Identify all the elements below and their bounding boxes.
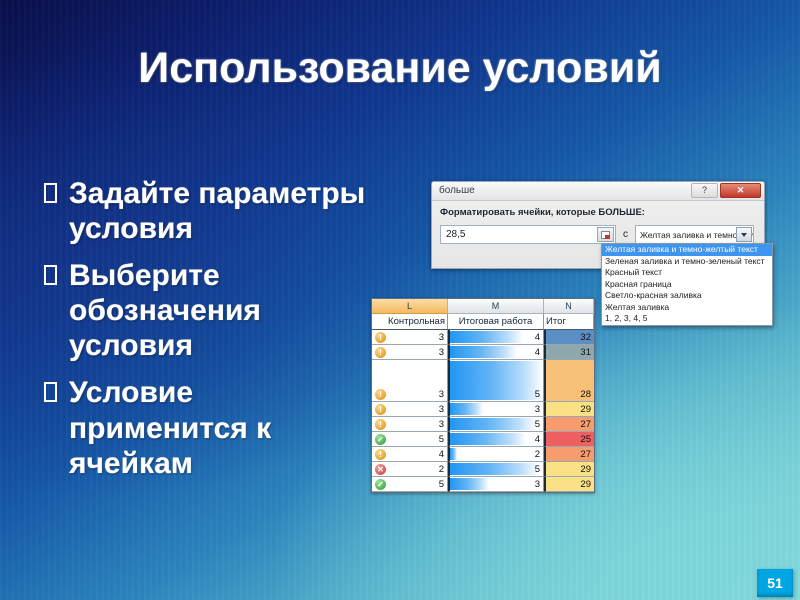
menu-item[interactable]: Красная граница xyxy=(602,279,772,291)
table-row[interactable]: ✓5329 xyxy=(372,477,594,492)
cell-value: 5 xyxy=(535,419,540,430)
data-bar xyxy=(450,403,483,415)
menu-item[interactable]: Желтая заливка xyxy=(602,302,772,314)
cell-value: 28 xyxy=(580,389,591,400)
bullet-marker-icon xyxy=(44,265,57,285)
cell-itog[interactable]: 27 xyxy=(544,447,594,462)
data-bar xyxy=(450,418,536,430)
cell-value: 4 xyxy=(535,347,540,358)
cell-kontrolnaya[interactable]: !3 xyxy=(372,360,448,402)
spreadsheet[interactable]: L M N Контрольная Итоговая работа Итог !… xyxy=(371,298,595,493)
column-header-m[interactable]: M xyxy=(448,299,544,314)
cell-value: 27 xyxy=(580,449,591,460)
cell-value: 29 xyxy=(580,464,591,475)
column-header-l[interactable]: L xyxy=(372,299,448,314)
range-select-icon[interactable] xyxy=(597,227,614,242)
table-row[interactable]: !3527 xyxy=(372,417,594,432)
threshold-value: 28,5 xyxy=(441,229,465,240)
dropdown-reflection: Желтая заливка и темно-желтый текст Зеле… xyxy=(601,325,773,359)
cell-value: 3 xyxy=(439,389,444,400)
cell-kontrolnaya[interactable]: !3 xyxy=(372,417,448,432)
dialog-titlebar[interactable]: больше ? ✕ xyxy=(432,182,764,201)
menu-item[interactable]: Красный текст xyxy=(602,267,772,279)
cell-itog[interactable]: 25 xyxy=(544,432,594,447)
menu-item[interactable]: 1, 2, 3, 4, 5 xyxy=(602,313,772,325)
cell-value: 2 xyxy=(535,449,540,460)
cell-value: 4 xyxy=(535,434,540,445)
data-bar xyxy=(450,331,523,343)
cell-value: 27 xyxy=(580,419,591,430)
bullet-text: Задайте параметры условия xyxy=(69,176,374,246)
table-row[interactable]: ✓5425 xyxy=(372,432,594,447)
warning-icon: ! xyxy=(375,389,386,400)
list-item: Выберите обозначения условия xyxy=(44,258,374,363)
dialog-prompt-label: Форматировать ячейки, которые БОЛЬШЕ: xyxy=(440,207,756,218)
table-row[interactable]: !4227 xyxy=(372,447,594,462)
menu-item[interactable]: Зеленая заливка и темно-зеленый текст xyxy=(602,256,772,268)
cell-itogovaya-rabota[interactable]: 2 xyxy=(448,447,544,462)
threshold-input[interactable]: 28,5 xyxy=(440,225,616,244)
warning-icon: ! xyxy=(375,404,386,415)
cell-kontrolnaya[interactable]: !4 xyxy=(372,447,448,462)
dialog-body: Форматировать ячейки, которые БОЛЬШЕ: 28… xyxy=(432,201,764,244)
cell-itog[interactable]: 29 xyxy=(544,462,594,477)
slide-canvas: Использование условий Задайте параметры … xyxy=(0,0,800,600)
list-item: Задайте параметры условия xyxy=(44,176,374,246)
cell-itog[interactable]: 27 xyxy=(544,417,594,432)
cell-value: 3 xyxy=(439,347,444,358)
cell-value: 3 xyxy=(535,404,540,415)
bullet-list: Задайте параметры условия Выберите обозн… xyxy=(44,176,374,493)
cell-itogovaya-rabota[interactable]: 4 xyxy=(448,345,544,360)
table-row[interactable]: !3432 xyxy=(372,330,594,345)
warning-icon: ! xyxy=(375,419,386,430)
cell-value: 3 xyxy=(439,404,444,415)
page-title: Использование условий xyxy=(0,44,800,93)
table-header-cell: Контрольная xyxy=(372,314,448,330)
cell-kontrolnaya[interactable]: ✕2 xyxy=(372,462,448,477)
cell-value: 25 xyxy=(580,434,591,445)
cell-value: 5 xyxy=(535,464,540,475)
close-icon[interactable]: ✕ xyxy=(720,183,761,198)
cell-value: 3 xyxy=(535,479,540,490)
cell-value: 5 xyxy=(535,389,540,400)
menu-item[interactable]: Желтая заливка и темно-желтый текст xyxy=(602,244,772,256)
data-bar xyxy=(450,433,526,445)
table-header-row: Контрольная Итоговая работа Итог xyxy=(372,314,594,330)
cell-value: 32 xyxy=(580,332,591,343)
table-row[interactable]: !3431 xyxy=(372,345,594,360)
ok-icon: ✓ xyxy=(375,479,386,490)
bullet-text: Выберите обозначения условия xyxy=(69,258,374,363)
ok-icon: ✓ xyxy=(375,434,386,445)
cell-value: 4 xyxy=(439,449,444,460)
table-row[interactable]: !3528 xyxy=(372,360,594,402)
cell-kontrolnaya[interactable]: ✓5 xyxy=(372,477,448,492)
cell-itogovaya-rabota[interactable]: 4 xyxy=(448,432,544,447)
cell-value: 3 xyxy=(439,419,444,430)
cell-value: 5 xyxy=(439,479,444,490)
cell-itogovaya-rabota[interactable]: 4 xyxy=(448,330,544,345)
data-bar xyxy=(450,346,517,358)
data-bar xyxy=(450,448,457,460)
with-label: с xyxy=(623,229,628,240)
menu-item[interactable]: Светло-красная заливка xyxy=(602,290,772,302)
cell-kontrolnaya[interactable]: !3 xyxy=(372,345,448,360)
column-header-row: L M N xyxy=(372,299,594,314)
table-header-cell: Итоговая работа xyxy=(448,314,544,330)
error-icon: ✕ xyxy=(375,464,386,475)
warning-icon: ! xyxy=(375,347,386,358)
bullet-marker-icon xyxy=(44,382,57,402)
data-bar xyxy=(450,478,489,490)
cell-kontrolnaya[interactable]: !3 xyxy=(372,402,448,417)
cell-itog[interactable]: 29 xyxy=(544,477,594,492)
chevron-down-icon[interactable] xyxy=(736,227,752,242)
cell-itog[interactable]: 32 xyxy=(544,330,594,345)
format-select[interactable]: Желтая заливка и темно-желтый текст xyxy=(635,225,754,244)
cell-kontrolnaya[interactable]: ✓5 xyxy=(372,432,448,447)
cell-itogovaya-rabota[interactable]: 3 xyxy=(448,477,544,492)
spreadsheet-reflection: L M N Контрольная Итоговая работа Итог !… xyxy=(371,530,595,592)
data-bar xyxy=(450,361,543,400)
list-item: Условие применится к ячейкам xyxy=(44,375,374,480)
cell-itogovaya-rabota[interactable]: 5 xyxy=(448,360,544,402)
cell-value: 29 xyxy=(580,404,591,415)
cell-itog[interactable]: 28 xyxy=(544,360,594,402)
cell-itogovaya-rabota[interactable]: 5 xyxy=(448,417,544,432)
warning-icon: ! xyxy=(375,449,386,460)
dialog-controls-row: 28,5 с Желтая заливка и темно-желтый тек… xyxy=(440,225,756,244)
cell-itog[interactable]: 31 xyxy=(544,345,594,360)
bullet-marker-icon xyxy=(44,183,57,203)
cell-value: 4 xyxy=(535,332,540,343)
bullet-text: Условие применится к ячейкам xyxy=(69,375,374,480)
page-number-badge: 51 xyxy=(757,569,793,597)
cell-itogovaya-rabota[interactable]: 5 xyxy=(448,462,544,477)
cell-itog[interactable]: 29 xyxy=(544,402,594,417)
cell-value: 2 xyxy=(439,464,444,475)
column-header-n[interactable]: N xyxy=(544,299,594,314)
dialog-title: больше xyxy=(439,185,475,196)
table-header-cell: Итог xyxy=(544,314,594,330)
cell-value: 29 xyxy=(580,479,591,490)
cell-value: 5 xyxy=(439,434,444,445)
table-row[interactable]: !3329 xyxy=(372,402,594,417)
help-icon[interactable]: ? xyxy=(691,183,718,198)
format-select-dropdown[interactable]: Желтая заливка и темно-желтый текст Зеле… xyxy=(601,243,773,326)
table-row[interactable]: ✕2529 xyxy=(372,462,594,477)
warning-icon: ! xyxy=(375,332,386,343)
cell-itogovaya-rabota[interactable]: 3 xyxy=(448,402,544,417)
cell-kontrolnaya[interactable]: !3 xyxy=(372,330,448,345)
data-bar xyxy=(450,463,539,475)
cell-value: 31 xyxy=(580,347,591,358)
cell-value: 3 xyxy=(439,332,444,343)
